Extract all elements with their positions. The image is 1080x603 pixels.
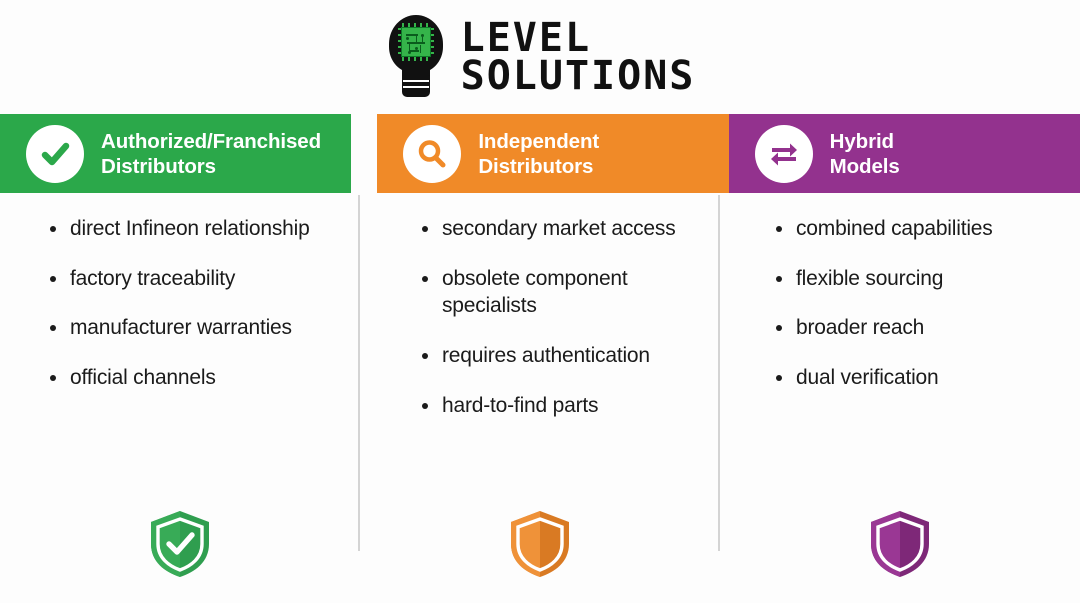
header-bar-authorized-franchised-distributors[interactable]: Authorized/Franchised Distributors — [0, 114, 351, 193]
magnifier-icon — [403, 125, 461, 183]
list-item: hard-to-find parts — [418, 392, 702, 420]
shield-icon — [507, 508, 573, 580]
list-item: factory traceability — [46, 265, 342, 293]
header-bar-hybrid-models[interactable]: Hybrid Models — [729, 114, 1080, 193]
brand-name-line2: SOLUTIONS — [461, 57, 696, 95]
list-item: dual verification — [772, 364, 1062, 392]
list-item: requires authentication — [418, 342, 702, 370]
list-item: direct Infineon relationship — [46, 215, 342, 243]
shield-cell-authorized — [0, 505, 360, 583]
category-header-bars: Authorized/Franchised Distributors Indep… — [0, 114, 1080, 193]
brand-name-line1: LEVEL — [461, 19, 696, 57]
header-title: Hybrid Models — [830, 129, 900, 179]
bullet-list: secondary market access obsolete compone… — [418, 215, 702, 420]
bullet-list: direct Infineon relationship factory tra… — [46, 215, 342, 392]
brand-header: LEVEL SOLUTIONS — [0, 0, 1080, 114]
shield-icon — [867, 508, 933, 580]
header-title: Independent Distributors — [478, 129, 599, 179]
list-item: secondary market access — [418, 215, 702, 243]
list-item: broader reach — [772, 314, 1062, 342]
exchange-arrows-icon — [755, 125, 813, 183]
shield-check-icon — [147, 508, 213, 580]
list-item: combined capabilities — [772, 215, 1062, 243]
shield-cell-hybrid — [720, 505, 1080, 583]
bullet-list: combined capabilities flexible sourcing … — [772, 215, 1062, 392]
list-item: obsolete component specialists — [418, 265, 702, 320]
list-item: official channels — [46, 364, 342, 392]
lightbulb-microchip-icon — [385, 15, 447, 99]
header-title: Authorized/Franchised Distributors — [101, 129, 321, 179]
shield-cell-independent — [360, 505, 720, 583]
header-bar-independent-distributors[interactable]: Independent Distributors — [377, 114, 728, 193]
bar-divider-1 — [351, 114, 377, 193]
list-item: flexible sourcing — [772, 265, 1062, 293]
check-circle-icon — [26, 125, 84, 183]
footer-shield-row — [0, 505, 1080, 583]
list-item: manufacturer warranties — [46, 314, 342, 342]
